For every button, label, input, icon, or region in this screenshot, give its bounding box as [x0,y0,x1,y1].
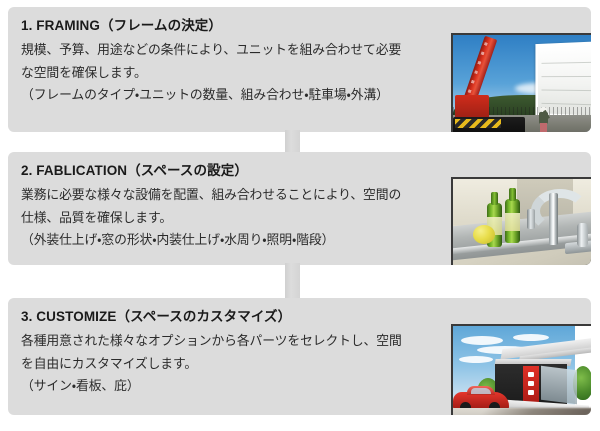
cloud-icon [513,334,549,341]
car-window [471,388,491,394]
connector-step1-to-step2 [285,130,300,154]
step-2-description-line-1: 業務に必要な様々な設備を配置、組み合わせることにより、空間の仕様、品質を確保しま… [21,184,403,229]
step-3-description-line-2: （サイン・看板、庇） [21,375,403,398]
store-rendering-image [451,324,591,415]
step-panel-customize: 3. CUSTOMIZE（スペースのカスタマイズ） 各種用意された様々なオプショ… [8,298,591,415]
kitchen-sink-photo [451,177,591,265]
worker-figure [539,107,548,132]
glass-front [541,366,577,404]
faucet-handle [577,223,588,247]
step-3-heading: 3. CUSTOMIZE（スペースのカスタマイズ） [21,307,403,327]
worker-legs [540,123,547,132]
step-2-heading: 2. FABLICATION（スペースの設定） [21,161,403,181]
faucet-neck [549,193,558,245]
step-2-description: 業務に必要な様々な設備を配置、組み合わせることにより、空間の仕様、品質を確保しま… [21,184,403,252]
store-render-scene [453,326,591,415]
crane-scene [453,35,591,132]
step-3-description-line-1: 各種用意された様々なオプションから各パーツをセレクトし、空間を自由にカスタマイズ… [21,330,403,375]
ground-shadow [479,408,591,415]
hazard-stripes [455,119,501,128]
kitchen-scene [453,179,591,265]
step-3-text-block: 3. CUSTOMIZE（スペースのカスタマイズ） 各種用意された様々なオプショ… [21,307,403,398]
faucet-spout [527,209,535,229]
step-2-text-block: 2. FABLICATION（スペースの設定） 業務に必要な様々な設備を配置、組… [21,161,403,252]
green-bottle-icon [505,199,520,243]
facade-accent [528,390,534,395]
connector-step2-to-step3 [285,263,300,300]
cloud-icon [459,356,493,363]
step-1-description-line-1: 規模、予算、用途などの条件により、ユニットを組み合わせて必要な空間を確保します。 [21,39,403,84]
step-2-description-line-2: （外装仕上げ・窓の形状・内装仕上げ・水周り・照明・階段） [21,229,403,252]
step-panel-framing: 1. FRAMING（フレームの決定） 規模、予算、用途などの条件により、ユニッ… [8,7,591,132]
bottle-label [505,213,520,231]
step-1-heading: 1. FRAMING（フレームの決定） [21,16,403,36]
step-panel-fablication: 2. FABLICATION（スペースの設定） 業務に必要な様々な設備を配置、組… [8,152,591,265]
crane-cab [455,95,489,119]
step-1-text-block: 1. FRAMING（フレームの決定） 規模、予算、用途などの条件により、ユニッ… [21,16,403,107]
facade-accent [528,372,534,377]
crane-lifting-unit-photo [451,33,591,132]
cloud-icon [461,336,503,345]
step-1-description-line-2: （フレームのタイプ・ユニットの数量、組み合わせ・駐車場・外溝） [21,84,403,107]
process-flow-diagram: 1. FRAMING（フレームの決定） 規模、予算、用途などの条件により、ユニッ… [0,0,600,431]
facade-accent [528,381,534,386]
red-facade-panel [523,366,539,406]
step-1-description: 規模、予算、用途などの条件により、ユニットを組み合わせて必要な空間を確保します。… [21,39,403,107]
step-3-description: 各種用意された様々なオプションから各パーツをセレクトし、空間を自由にカスタマイズ… [21,330,403,398]
